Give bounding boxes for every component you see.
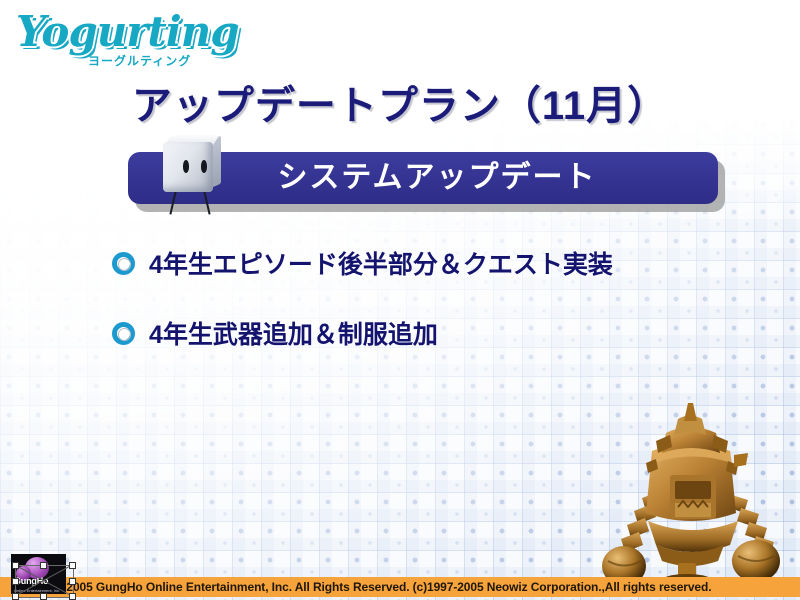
resize-handle-middle-left[interactable]: [12, 578, 19, 585]
list-item-label: 4年生エピソード後半部分＆クエスト実装: [149, 245, 613, 281]
mascot-eye-left: [183, 160, 189, 173]
gungho-logo[interactable]: GungHo Online Entertainment, Inc.: [11, 554, 66, 594]
ring-bullet-icon: [112, 252, 135, 275]
gungho-logo-name: GungHo: [14, 576, 48, 586]
golem-illustration: [582, 403, 792, 588]
resize-handle-bottom-center[interactable]: [40, 593, 47, 600]
gungho-logo-subtitle: Online Entertainment, Inc.: [14, 588, 60, 593]
yogurting-kana-subtitle: ヨーグルティング: [88, 52, 191, 69]
copyright-text: (c)2005 GungHo Online Entertainment, Inc…: [52, 578, 800, 596]
resize-handle-top-center[interactable]: [40, 562, 47, 569]
yogurting-logo: Yogurting ヨーグルティング: [16, 10, 216, 72]
list-item: 4年生武器追加＆制服追加: [112, 315, 752, 351]
mascot-leg-left: [169, 190, 177, 215]
golden-golem-artwork: [582, 403, 792, 588]
resize-handle-bottom-left[interactable]: [12, 593, 19, 600]
resize-handle-bottom-right[interactable]: [69, 593, 76, 600]
resize-handle-middle-right[interactable]: [69, 578, 76, 585]
presentation-slide: Yogurting ヨーグルティング アップデートプラン（11月） システムアッ…: [0, 0, 800, 600]
gungho-logo-image: GungHo Online Entertainment, Inc.: [11, 554, 66, 594]
resize-handle-top-right[interactable]: [69, 562, 76, 569]
mascot-eye-right: [201, 160, 207, 173]
mascot-leg-right: [203, 190, 211, 215]
mascot-front-face: [163, 142, 213, 192]
list-item: 4年生エピソード後半部分＆クエスト実装: [112, 245, 752, 281]
cube-mascot-icon: [157, 142, 223, 218]
yogurting-wordmark: Yogurting: [16, 10, 216, 54]
resize-handle-top-left[interactable]: [12, 562, 19, 569]
page-title: アップデートプラン（11月）: [0, 73, 800, 131]
bullet-list: 4年生エピソード後半部分＆クエスト実装 4年生武器追加＆制服追加: [112, 245, 752, 385]
ring-bullet-icon: [112, 322, 135, 345]
list-item-label: 4年生武器追加＆制服追加: [149, 315, 438, 351]
